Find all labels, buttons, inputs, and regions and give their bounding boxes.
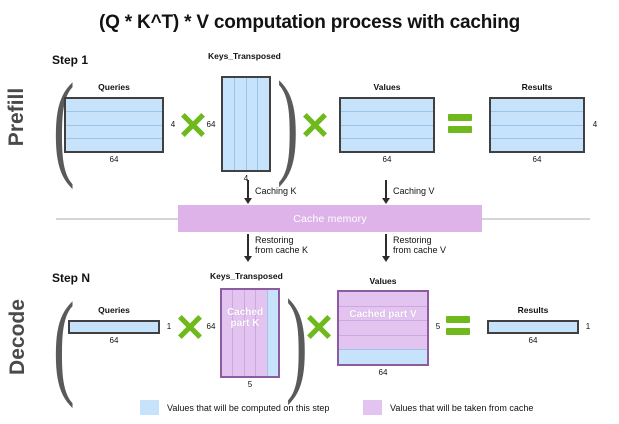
decode-values-height-dim: 5 bbox=[432, 322, 444, 331]
prefill-close-paren: ) bbox=[272, 64, 294, 182]
matrix-cell bbox=[491, 111, 583, 124]
legend-cache-label: Values that will be taken from cache bbox=[390, 403, 533, 413]
decode-keys-transposed-width-dim: 5 bbox=[220, 380, 280, 389]
prefill-multiply-icon-1 bbox=[180, 112, 206, 138]
caching-v-label: Caching V bbox=[393, 186, 435, 196]
diagram-canvas: (Q * K^T) * V computation process with c… bbox=[0, 0, 619, 424]
prefill-results-height-dim: 4 bbox=[589, 120, 601, 129]
caching-v-arrow bbox=[381, 180, 391, 206]
decode-keys-transposed-height-dim: 64 bbox=[204, 322, 218, 331]
decode-queries-matrix bbox=[68, 320, 160, 334]
matrix-cell bbox=[491, 138, 583, 151]
caching-k-label: Caching K bbox=[255, 186, 297, 196]
prefill-equals-icon bbox=[448, 114, 472, 136]
matrix-cell bbox=[341, 111, 433, 124]
prefill-results-width-dim: 64 bbox=[489, 155, 585, 164]
decode-results-width-dim: 64 bbox=[487, 336, 579, 345]
prefill-results-matrix bbox=[489, 97, 585, 153]
matrix-cell-cached bbox=[222, 290, 232, 376]
decode-open-paren: ( bbox=[48, 285, 70, 403]
decode-equals-icon bbox=[446, 316, 470, 338]
prefill-multiply-icon-2 bbox=[302, 112, 328, 138]
matrix-cell-cached bbox=[232, 290, 243, 376]
restoring-v-label-line2: from cache V bbox=[393, 245, 446, 255]
matrix-cell bbox=[66, 111, 162, 124]
decode-results-title: Results bbox=[487, 306, 579, 315]
matrix-cell bbox=[66, 99, 162, 111]
matrix-cell bbox=[70, 322, 158, 332]
matrix-cell-cached bbox=[244, 290, 255, 376]
matrix-cell bbox=[66, 125, 162, 138]
decode-side-label-text: Decode bbox=[6, 296, 30, 378]
matrix-cell bbox=[223, 78, 234, 170]
prefill-side-label-text: Prefill bbox=[5, 76, 29, 158]
decode-queries-height-dim: 1 bbox=[163, 322, 175, 331]
matrix-cell-cached bbox=[339, 335, 427, 350]
matrix-cell-cached bbox=[339, 306, 427, 321]
prefill-values-title: Values bbox=[339, 83, 435, 92]
restoring-v-label-line1: Restoring bbox=[393, 235, 446, 245]
decode-keys-transposed-matrix bbox=[220, 288, 280, 378]
page-title: (Q * K^T) * V computation process with c… bbox=[0, 12, 619, 34]
restoring-k-label-line1: Restoring bbox=[255, 235, 308, 245]
caching-k-arrow bbox=[243, 180, 253, 206]
legend-item-compute: Values that will be computed on this ste… bbox=[140, 400, 329, 415]
matrix-cell-new bbox=[267, 290, 278, 376]
matrix-cell-cached bbox=[339, 292, 427, 306]
decode-values-matrix bbox=[337, 290, 429, 366]
prefill-queries-width-dim: 64 bbox=[64, 155, 164, 164]
prefill-keys-transposed-height-dim: 64 bbox=[204, 120, 218, 129]
restoring-v-arrow bbox=[381, 234, 391, 264]
decode-values-width-dim: 64 bbox=[337, 368, 429, 377]
decode-multiply-icon-2 bbox=[306, 314, 332, 340]
restoring-k-arrow bbox=[243, 234, 253, 264]
matrix-cell bbox=[66, 138, 162, 151]
restoring-v-label: Restoring from cache V bbox=[393, 235, 446, 256]
matrix-cell bbox=[489, 322, 577, 332]
decode-multiply-icon-1 bbox=[177, 314, 203, 340]
decode-queries-title: Queries bbox=[68, 306, 160, 315]
matrix-cell-new bbox=[339, 349, 427, 364]
prefill-results-title: Results bbox=[489, 83, 585, 92]
matrix-cell bbox=[341, 138, 433, 151]
legend-swatch-cache-icon bbox=[363, 400, 382, 415]
prefill-queries-title: Queries bbox=[64, 83, 164, 92]
matrix-cell bbox=[491, 125, 583, 138]
matrix-cell bbox=[491, 99, 583, 111]
decode-values-title: Values bbox=[337, 277, 429, 286]
legend-compute-label: Values that will be computed on this ste… bbox=[167, 403, 329, 413]
legend-swatch-compute-icon bbox=[140, 400, 159, 415]
prefill-keys-transposed-matrix bbox=[221, 76, 271, 172]
prefill-values-width-dim: 64 bbox=[339, 155, 435, 164]
decode-results-height-dim: 1 bbox=[582, 322, 594, 331]
decode-queries-width-dim: 64 bbox=[68, 336, 160, 345]
matrix-cell bbox=[246, 78, 258, 170]
decode-close-paren: ) bbox=[281, 282, 303, 400]
decode-keys-transposed-title: Keys_Transposed bbox=[210, 272, 274, 281]
cache-memory-label: Cache memory bbox=[293, 213, 367, 225]
legend-item-cache: Values that will be taken from cache bbox=[363, 400, 533, 415]
prefill-queries-matrix bbox=[64, 97, 164, 153]
prefill-queries-height-dim: 4 bbox=[167, 120, 179, 129]
decode-results-matrix bbox=[487, 320, 579, 334]
matrix-cell bbox=[341, 125, 433, 138]
matrix-cell-cached bbox=[255, 290, 266, 376]
cache-memory-band: Cache memory bbox=[178, 205, 482, 232]
prefill-keys-transposed-title: Keys_Transposed bbox=[208, 52, 272, 61]
legend: Values that will be computed on this ste… bbox=[140, 400, 580, 418]
matrix-cell-cached bbox=[339, 320, 427, 335]
matrix-cell bbox=[341, 99, 433, 111]
restoring-k-label-line2: from cache K bbox=[255, 245, 308, 255]
prefill-values-matrix bbox=[339, 97, 435, 153]
matrix-cell bbox=[234, 78, 246, 170]
restoring-k-label: Restoring from cache K bbox=[255, 235, 308, 256]
matrix-cell bbox=[257, 78, 269, 170]
